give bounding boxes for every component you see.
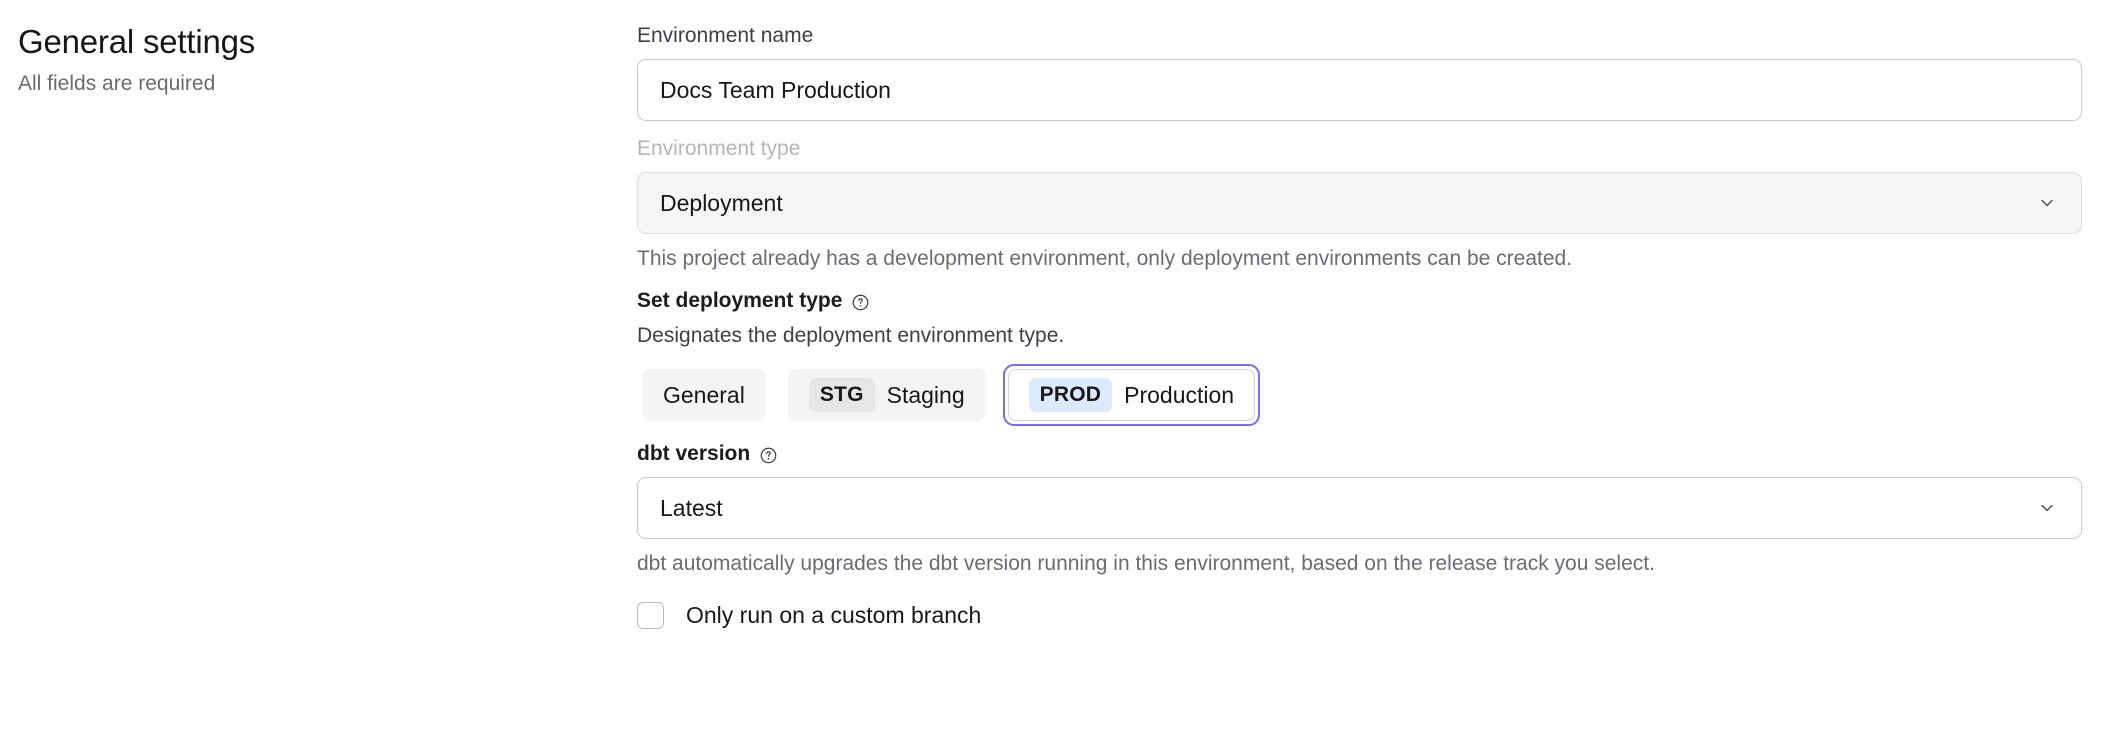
page-subtitle: All fields are required — [18, 70, 578, 98]
deployment-type-option-production-label: Production — [1124, 382, 1234, 409]
staging-badge: STG — [809, 378, 875, 412]
question-circle-icon[interactable] — [759, 446, 778, 465]
chevron-down-icon — [2037, 193, 2057, 213]
environment-name-value: Docs Team Production — [660, 77, 2059, 104]
dbt-version-label: dbt version — [637, 440, 750, 468]
environment-type-label: Environment type — [637, 135, 2082, 163]
dbt-version-value: Latest — [660, 495, 2059, 522]
production-badge: PROD — [1029, 378, 1112, 412]
dbt-version-select[interactable]: Latest — [637, 477, 2082, 539]
deployment-type-option-general-label: General — [663, 382, 745, 409]
deployment-type-option-general[interactable]: General — [642, 369, 766, 421]
deployment-type-toggle-group: General STG Staging PROD Production — [637, 364, 2082, 426]
environment-type-value: Deployment — [660, 190, 2059, 217]
environment-name-input[interactable]: Docs Team Production — [637, 59, 2082, 121]
environment-type-select[interactable]: Deployment — [637, 172, 2082, 234]
spacer — [637, 121, 2082, 135]
spacer — [637, 426, 2082, 440]
question-circle-icon[interactable] — [851, 293, 870, 312]
environment-name-field: Environment name Docs Team Production — [637, 22, 2082, 121]
dbt-version-field: dbt version Latest dbt automatica — [637, 440, 2082, 578]
page-title: General settings — [18, 22, 578, 62]
deployment-type-option-staging-wrap: STG Staging — [783, 364, 991, 426]
environment-type-helper-text: This project already has a development e… — [637, 245, 2082, 273]
spacer — [637, 273, 2082, 287]
environment-name-label: Environment name — [637, 22, 2082, 50]
deployment-type-option-staging-label: Staging — [887, 382, 965, 409]
deployment-type-label: Set deployment type — [637, 287, 842, 315]
custom-branch-row[interactable]: Only run on a custom branch — [637, 602, 2082, 629]
general-settings-page: General settings All fields are required… — [0, 0, 2110, 742]
settings-intro-column: General settings All fields are required — [18, 22, 578, 98]
environment-type-field: Environment type Deployment This project… — [637, 135, 2082, 273]
deployment-type-option-production[interactable]: PROD Production — [1008, 369, 1255, 421]
deployment-type-label-row: Set deployment type — [637, 287, 2082, 315]
custom-branch-checkbox[interactable] — [637, 602, 664, 629]
deployment-type-option-general-wrap: General — [637, 364, 771, 426]
deployment-type-option-production-wrap: PROD Production — [1003, 364, 1260, 426]
dbt-version-helper-text: dbt automatically upgrades the dbt versi… — [637, 550, 2082, 578]
deployment-type-description: Designates the deployment environment ty… — [637, 322, 2082, 350]
settings-form-column: Environment name Docs Team Production En… — [637, 22, 2082, 629]
custom-branch-label: Only run on a custom branch — [686, 602, 981, 629]
deployment-type-field: Set deployment type Designates the deplo… — [637, 287, 2082, 426]
chevron-down-icon — [2037, 498, 2057, 518]
dbt-version-label-row: dbt version — [637, 440, 2082, 468]
deployment-type-option-staging[interactable]: STG Staging — [788, 369, 986, 421]
